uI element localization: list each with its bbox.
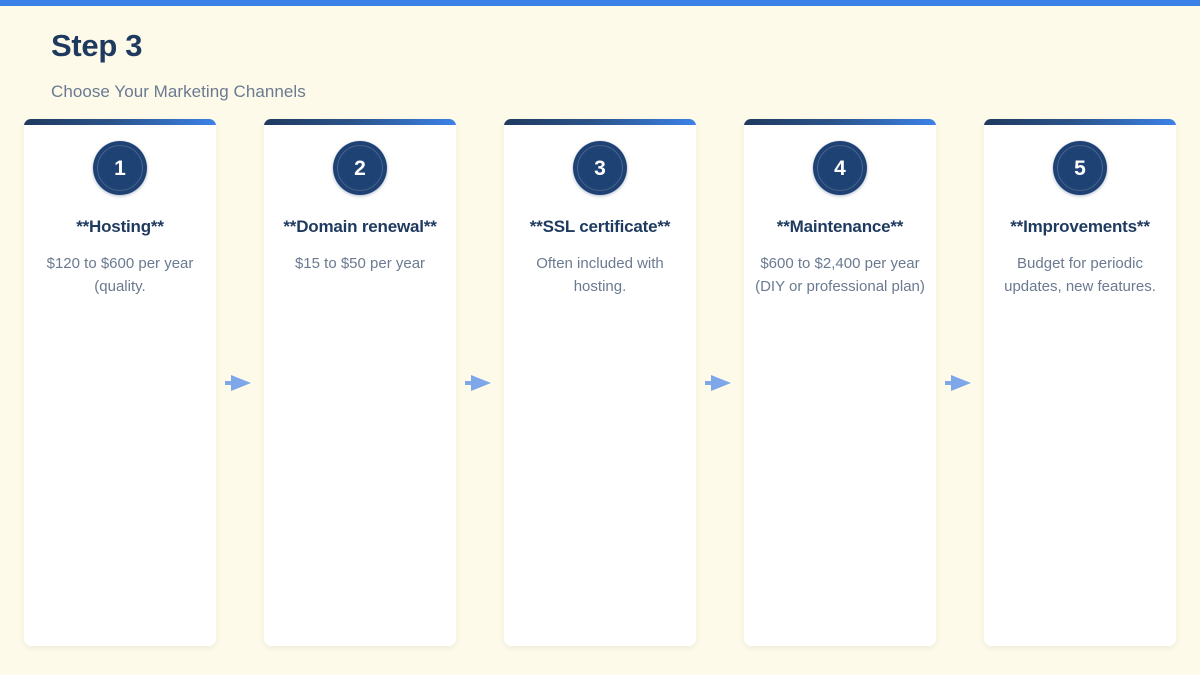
step-description: $15 to $50 per year	[295, 253, 425, 276]
step-card[interactable]: 4**Maintenance**$600 to $2,400 per year …	[744, 119, 936, 646]
process-flow: 1**Hosting**$120 to $600 per year (quali…	[24, 119, 1176, 646]
step-title: **Maintenance**	[777, 214, 903, 240]
step-description: $120 to $600 per year (quality.	[35, 253, 205, 299]
step-description: Budget for periodic updates, new feature…	[995, 253, 1165, 299]
card-top-accent	[984, 119, 1176, 125]
header: Step 3 Choose Your Marketing Channels	[51, 6, 306, 100]
page-title: Step 3	[51, 30, 306, 61]
step-number: 1	[114, 158, 126, 179]
card-top-accent	[24, 119, 216, 125]
page-subtitle: Choose Your Marketing Channels	[51, 83, 306, 100]
step-card[interactable]: 1**Hosting**$120 to $600 per year (quali…	[24, 119, 216, 646]
step-card[interactable]: 2**Domain renewal**$15 to $50 per year	[264, 119, 456, 646]
step-description: $600 to $2,400 per year (DIY or professi…	[755, 253, 925, 299]
step-number-badge: 2	[333, 141, 387, 195]
step-title: **Hosting**	[76, 214, 164, 240]
flow-connector	[216, 119, 264, 646]
step-title: **SSL certificate**	[530, 214, 670, 240]
step-number: 3	[594, 158, 606, 179]
flow-connector	[936, 119, 984, 646]
arrow-right-icon	[945, 373, 975, 393]
flow-connector	[456, 119, 504, 646]
arrow-right-icon	[465, 373, 495, 393]
arrow-right-icon	[705, 373, 735, 393]
step-number: 5	[1074, 158, 1086, 179]
step-card[interactable]: 3**SSL certificate**Often included with …	[504, 119, 696, 646]
step-title: **Improvements**	[1010, 214, 1149, 240]
card-top-accent	[264, 119, 456, 125]
step-number-badge: 3	[573, 141, 627, 195]
card-top-accent	[744, 119, 936, 125]
step-number: 4	[834, 158, 846, 179]
step-title: **Domain renewal**	[283, 214, 436, 240]
step-description: Often included with hosting.	[515, 253, 685, 299]
step-number: 2	[354, 158, 366, 179]
step-card[interactable]: 5**Improvements**Budget for periodic upd…	[984, 119, 1176, 646]
step-number-badge: 4	[813, 141, 867, 195]
step-number-badge: 1	[93, 141, 147, 195]
step-number-badge: 5	[1053, 141, 1107, 195]
card-top-accent	[504, 119, 696, 125]
arrow-right-icon	[225, 373, 255, 393]
flow-connector	[696, 119, 744, 646]
